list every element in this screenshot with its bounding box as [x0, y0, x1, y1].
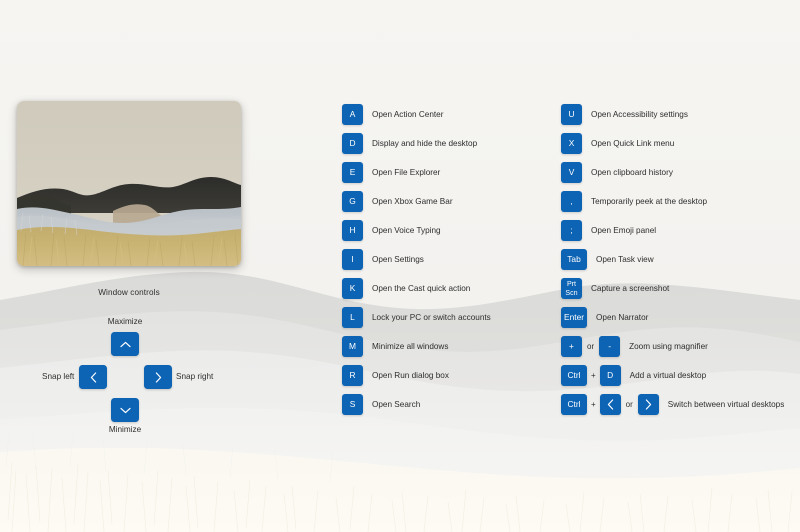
- shortcut-row: HOpen Voice Typing: [342, 220, 491, 249]
- shortcut-description: Switch between virtual desktops: [659, 394, 785, 415]
- snap-left-label: Snap left: [42, 372, 74, 381]
- shortcut-keys: M: [342, 336, 363, 357]
- key-a[interactable]: A: [342, 104, 363, 125]
- chevron-up-icon: [120, 341, 131, 348]
- shortcut-list-left: AOpen Action CenterDDisplay and hide the…: [342, 104, 491, 423]
- key-joiner-plus: +: [587, 394, 600, 415]
- wallpaper-thumbnail-image: [17, 101, 241, 266]
- shortcut-keys: V: [561, 162, 582, 183]
- shortcut-keys: L: [342, 307, 363, 328]
- shortcut-description: Open clipboard history: [582, 162, 673, 183]
- maximize-label: Maximize: [0, 317, 250, 326]
- shortcut-row: IOpen Settings: [342, 249, 491, 278]
- shortcut-description: Temporarily peek at the desktop: [582, 191, 707, 212]
- shortcut-description: Open Search: [363, 394, 420, 415]
- window-controls-diagram: Maximize: [0, 310, 258, 440]
- key-ctrl[interactable]: Ctrl: [561, 365, 587, 386]
- shortcut-description: Open Action Center: [363, 104, 443, 125]
- shortcut-row: TabOpen Task view: [561, 249, 784, 278]
- key-d[interactable]: D: [342, 133, 363, 154]
- shortcut-row: ,Temporarily peek at the desktop: [561, 191, 784, 220]
- minimize-label: Minimize: [0, 425, 250, 434]
- shortcut-row: GOpen Xbox Game Bar: [342, 191, 491, 220]
- shortcut-description: Lock your PC or switch accounts: [363, 307, 491, 328]
- shortcut-description: Open Quick Link menu: [582, 133, 674, 154]
- key-label-line: Scn: [565, 289, 577, 297]
- key-ctrl[interactable]: Ctrl: [561, 394, 587, 415]
- shortcut-keys: U: [561, 104, 582, 125]
- window-controls-caption: Window controls: [0, 288, 258, 297]
- shortcut-row: EOpen File Explorer: [342, 162, 491, 191]
- shortcut-keys: X: [561, 133, 582, 154]
- chevron-down-icon: [120, 407, 131, 414]
- shortcut-row: SOpen Search: [342, 394, 491, 423]
- key-m[interactable]: M: [342, 336, 363, 357]
- shortcut-row: AOpen Action Center: [342, 104, 491, 133]
- key-e[interactable]: E: [342, 162, 363, 183]
- key-chevron-right-icon[interactable]: [638, 394, 659, 415]
- shortcut-keys: I: [342, 249, 363, 270]
- shortcut-description: Open Run dialog box: [363, 365, 449, 386]
- shortcut-keys: Tab: [561, 249, 587, 270]
- shortcut-keys: +or-: [561, 336, 620, 357]
- shortcut-row: MMinimize all windows: [342, 336, 491, 365]
- shortcut-description: Minimize all windows: [363, 336, 448, 357]
- shortcut-description: Open Task view: [587, 249, 654, 270]
- shortcut-description: Open Accessibility settings: [582, 104, 688, 125]
- shortcut-keys: ,: [561, 191, 582, 212]
- snap-right-button[interactable]: [144, 365, 172, 389]
- shortcut-keys: D: [342, 133, 363, 154]
- key-label-line: Prt: [567, 280, 576, 288]
- shortcut-description: Open Narrator: [587, 307, 648, 328]
- shortcut-keys: R: [342, 365, 363, 386]
- minimize-button[interactable]: [111, 398, 139, 422]
- shortcut-row: Ctrl+DAdd a virtual desktop: [561, 365, 784, 394]
- shortcut-row: UOpen Accessibility settings: [561, 104, 784, 133]
- key-prt-scn[interactable]: PrtScn: [561, 278, 582, 299]
- shortcut-keys: Ctrl+or: [561, 394, 659, 415]
- shortcut-description: Add a virtual desktop: [621, 365, 706, 386]
- key-d[interactable]: D: [600, 365, 621, 386]
- shortcut-keys: Enter: [561, 307, 587, 328]
- shortcut-keys: Ctrl+D: [561, 365, 621, 386]
- shortcut-description: Open the Cast quick action: [363, 278, 470, 299]
- key-+[interactable]: +: [561, 336, 582, 357]
- chevron-right-icon: [645, 399, 652, 410]
- shortcut-description: Open Xbox Game Bar: [363, 191, 453, 212]
- shortcut-keys: PrtScn: [561, 278, 582, 299]
- shortcut-description: Display and hide the desktop: [363, 133, 477, 154]
- key-v[interactable]: V: [561, 162, 582, 183]
- shortcut-row: DDisplay and hide the desktop: [342, 133, 491, 162]
- key-joiner-plus: +: [587, 365, 600, 386]
- shortcut-row: VOpen clipboard history: [561, 162, 784, 191]
- key-chevron-left-icon[interactable]: [600, 394, 621, 415]
- key-tab[interactable]: Tab: [561, 249, 587, 270]
- shortcut-keys: E: [342, 162, 363, 183]
- shortcut-description: Open Voice Typing: [363, 220, 441, 241]
- shortcut-keys: A: [342, 104, 363, 125]
- key-joiner-or: or: [582, 336, 599, 357]
- shortcut-row: ;Open Emoji panel: [561, 220, 784, 249]
- shortcut-row: EnterOpen Narrator: [561, 307, 784, 336]
- key-i[interactable]: I: [342, 249, 363, 270]
- snap-right-label: Snap right: [176, 372, 213, 381]
- key-enter[interactable]: Enter: [561, 307, 587, 328]
- shortcut-keys: G: [342, 191, 363, 212]
- shortcut-row: PrtScnCapture a screenshot: [561, 278, 784, 307]
- shortcut-description: Open File Explorer: [363, 162, 440, 183]
- key-h[interactable]: H: [342, 220, 363, 241]
- key--[interactable]: -: [599, 336, 620, 357]
- key-r[interactable]: R: [342, 365, 363, 386]
- shortcut-keys: K: [342, 278, 363, 299]
- maximize-button[interactable]: [111, 332, 139, 356]
- shortcut-row: Ctrl+orSwitch between virtual desktops: [561, 394, 784, 423]
- shortcut-row: LLock your PC or switch accounts: [342, 307, 491, 336]
- desktop-wallpaper-preview: [17, 101, 241, 266]
- chevron-left-icon: [607, 399, 614, 410]
- key-k[interactable]: K: [342, 278, 363, 299]
- shortcut-description: Zoom using magnifier: [620, 336, 708, 357]
- shortcut-description: Capture a screenshot: [582, 278, 669, 299]
- key-g[interactable]: G: [342, 191, 363, 212]
- shortcut-description: Open Emoji panel: [582, 220, 656, 241]
- key-x[interactable]: X: [561, 133, 582, 154]
- key-joiner-or: or: [621, 394, 638, 415]
- shortcut-list-right: UOpen Accessibility settingsXOpen Quick …: [561, 104, 784, 423]
- shortcut-row: +or-Zoom using magnifier: [561, 336, 784, 365]
- shortcut-row: ROpen Run dialog box: [342, 365, 491, 394]
- shortcut-row: XOpen Quick Link menu: [561, 133, 784, 162]
- key-,[interactable]: ,: [561, 191, 582, 212]
- key-u[interactable]: U: [561, 104, 582, 125]
- key-;[interactable]: ;: [561, 220, 582, 241]
- key-l[interactable]: L: [342, 307, 363, 328]
- shortcut-row: KOpen the Cast quick action: [342, 278, 491, 307]
- shortcut-description: Open Settings: [363, 249, 424, 270]
- shortcut-keys: S: [342, 394, 363, 415]
- chevron-right-icon: [155, 372, 162, 383]
- shortcut-keys: H: [342, 220, 363, 241]
- chevron-left-icon: [90, 372, 97, 383]
- snap-left-button[interactable]: [79, 365, 107, 389]
- key-s[interactable]: S: [342, 394, 363, 415]
- shortcut-keys: ;: [561, 220, 582, 241]
